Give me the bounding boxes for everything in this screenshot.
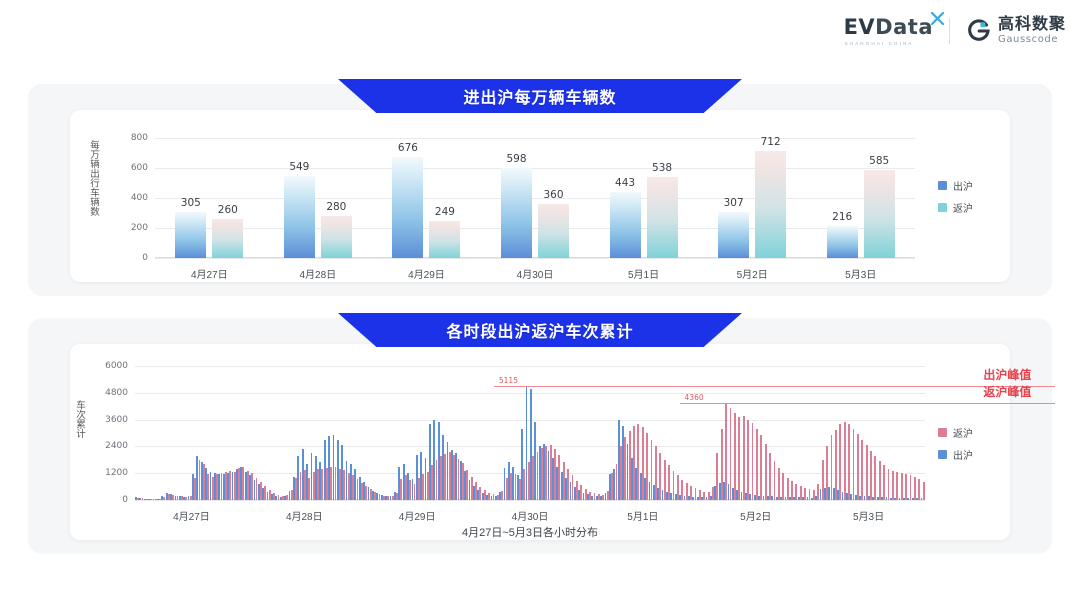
chart-2-annotation-label: 出沪峰值 xyxy=(983,366,1031,383)
chart-2-hour-bar-返沪[interactable] xyxy=(866,445,868,500)
chart-2-hour-bar-返沪[interactable] xyxy=(769,453,771,500)
chart-1-plot-area: 0200400600800305260549280676249598360443… xyxy=(155,138,915,258)
chart-1-legend-swatch xyxy=(938,181,947,190)
chart-2-x-axis-caption: 4月27日~5月3日各小时分布 xyxy=(462,524,598,540)
chart-1-x-tick-label: 5月1日 xyxy=(628,266,659,281)
chart-1-legend-item[interactable]: 出沪 xyxy=(938,178,973,193)
chart-2-hour-bar-返沪[interactable] xyxy=(910,475,912,500)
x-mark-icon xyxy=(931,12,944,25)
chart-1-gridline xyxy=(155,198,915,199)
chart-2-hour-bar-返沪[interactable] xyxy=(870,451,872,500)
chart-2-annotation-value: 4360 xyxy=(685,393,704,402)
chart-1-bar-返沪[interactable]: 280 xyxy=(321,216,352,258)
chart-2-legend-item[interactable]: 返沪 xyxy=(938,425,973,440)
chart-2-y-tick-label: 1200 xyxy=(105,468,128,478)
chart-1-bar-返沪[interactable]: 360 xyxy=(538,204,569,258)
chart-2-hour-bar-返沪[interactable] xyxy=(839,424,841,500)
chart-1-bar-value-label: 443 xyxy=(615,177,635,189)
chart-2-x-tick-label: 4月27日 xyxy=(173,508,210,523)
chart-2-hour-bar-返沪[interactable] xyxy=(883,465,885,500)
chart-1-x-tick-label: 5月2日 xyxy=(737,266,768,281)
chart-1-y-tick-label: 400 xyxy=(131,193,148,203)
chart-2-hour-bar-返沪[interactable] xyxy=(879,461,881,500)
chart-1-bar-出沪[interactable]: 443 xyxy=(610,192,641,258)
chart-2-hour-bar-返沪[interactable] xyxy=(853,429,855,500)
chart-2-hour-bar-返沪[interactable] xyxy=(914,477,916,500)
chart-2-gridline xyxy=(135,500,925,501)
chart-1-bar-出沪[interactable]: 305 xyxy=(175,212,206,258)
chart-1-bar-value-label: 585 xyxy=(869,155,889,167)
chart-2-annotation-value: 5115 xyxy=(499,376,518,385)
chart-2-y-tick-label: 3600 xyxy=(105,415,128,425)
chart-2-y-tick-label: 2400 xyxy=(105,441,128,451)
chart-2-x-tick-label: 5月3日 xyxy=(853,508,884,523)
chart-1-y-tick-label: 800 xyxy=(131,133,148,143)
chart-2-annotation-label: 返沪峰值 xyxy=(983,383,1031,400)
chart-1-gridline xyxy=(155,258,915,259)
chart-1-gridline xyxy=(155,228,915,229)
chart-1-bar-value-label: 676 xyxy=(398,142,418,154)
chart-1-bar-返沪[interactable]: 249 xyxy=(429,221,460,258)
chart-2-legend-label: 出沪 xyxy=(953,447,973,462)
chart-1-y-tick-label: 600 xyxy=(131,163,148,173)
logo-evdata: EVData SHANGHAI CHINA xyxy=(844,17,933,46)
chart-1-bar-value-label: 307 xyxy=(724,197,744,209)
chart-2-hour-bar-返沪[interactable] xyxy=(888,469,890,500)
chart-1-bar-出沪[interactable]: 216 xyxy=(827,226,858,258)
chart-1-x-tick-label: 4月29日 xyxy=(408,266,445,281)
chart-1-legend: 出沪返沪 xyxy=(938,178,973,215)
chart-1-legend-label: 出沪 xyxy=(953,178,973,193)
chart-1-y-tick-label: 0 xyxy=(142,253,148,263)
chart-2-hour-bar-返沪[interactable] xyxy=(774,461,776,500)
chart-2-x-tick-label: 4月28日 xyxy=(286,508,323,523)
chart-1-bar-出沪[interactable]: 676 xyxy=(392,157,423,258)
chart-2-hour-bar-返沪[interactable] xyxy=(752,423,754,500)
chart-1-bar-返沪[interactable]: 585 xyxy=(864,170,895,258)
chart-2-hour-bar-返沪[interactable] xyxy=(874,456,876,500)
chart-2-hour-bar-返沪[interactable] xyxy=(896,472,898,500)
chart-2-hour-bar-返沪[interactable] xyxy=(730,408,732,500)
chart-1-bar-value-label: 216 xyxy=(832,211,852,223)
chart-2-x-tick-label: 4月30日 xyxy=(512,508,549,523)
chart-1-legend-swatch xyxy=(938,203,947,212)
chart-1-gridline xyxy=(155,138,915,139)
chart-2-hour-bar-返沪[interactable] xyxy=(857,434,859,500)
chart-2-legend: 返沪出沪 xyxy=(938,425,973,462)
chart-1-bar-value-label: 712 xyxy=(761,136,781,148)
chart-1-gridline xyxy=(155,168,915,169)
chart-2-hour-bar-返沪[interactable] xyxy=(734,413,736,500)
chart-1-legend-label: 返沪 xyxy=(953,200,973,215)
chart-2-plot-area: 0120024003600480060004月27日4月28日4月29日4月30… xyxy=(135,366,925,500)
gausscode-mark-icon xyxy=(966,18,992,44)
chart-1-bar-出沪[interactable]: 307 xyxy=(718,212,749,258)
chart-2-legend-swatch xyxy=(938,450,947,459)
chart-1-bar-value-label: 598 xyxy=(506,153,526,165)
chart-2-legend-label: 返沪 xyxy=(953,425,973,440)
chart-2-hour-bar-返沪[interactable] xyxy=(765,444,767,500)
chart-1-bar-value-label: 249 xyxy=(435,206,455,218)
chart-2-annotation-line xyxy=(680,403,1055,404)
chart-2-hour-bar-返沪[interactable] xyxy=(738,417,740,500)
chart-2-x-tick-label: 5月1日 xyxy=(627,508,658,523)
gausscode-cn: 高科数聚 xyxy=(998,17,1066,33)
gausscode-text: 高科数聚 Gausscode xyxy=(998,17,1066,45)
chart-2-hour-bar-返沪[interactable] xyxy=(892,471,894,500)
chart-2-hour-bar-返沪[interactable] xyxy=(756,429,758,500)
chart-2-gridline xyxy=(135,366,925,367)
chart-2-hour-bar-返沪[interactable] xyxy=(747,420,749,500)
chart-2-hour-bar-返沪[interactable] xyxy=(848,424,850,500)
chart-2-x-tick-label: 4月29日 xyxy=(399,508,436,523)
chart-2-legend-swatch xyxy=(938,428,947,437)
gausscode-en: Gausscode xyxy=(998,35,1066,45)
logo-gausscode: 高科数聚 Gausscode xyxy=(966,17,1066,45)
section-1-banner-title: 进出沪每万辆车辆数 xyxy=(338,79,742,113)
chart-1-bar-value-label: 280 xyxy=(326,201,346,213)
chart-2-y-axis-title: 车次累计 xyxy=(72,400,86,470)
chart-2-hour-bar-返沪[interactable] xyxy=(760,435,762,500)
page-header: EVData SHANGHAI CHINA 高科数聚 Gausscode xyxy=(0,0,1080,62)
logo-evdata-wordmark: EVData xyxy=(844,17,933,38)
chart-1-bar-value-label: 549 xyxy=(289,161,309,173)
chart-2-x-tick-label: 5月2日 xyxy=(740,508,771,523)
chart-2-hour-bar-返沪[interactable] xyxy=(918,479,920,500)
chart-1-bar-返沪[interactable]: 712 xyxy=(755,151,786,258)
chart-1-x-tick-label: 4月30日 xyxy=(517,266,554,281)
chart-1-x-tick-label: 4月28日 xyxy=(300,266,337,281)
logo-evdata-data: Data xyxy=(875,15,933,39)
chart-1-y-tick-label: 200 xyxy=(131,223,148,233)
chart-1-bar-出沪[interactable]: 549 xyxy=(284,176,315,258)
chart-1-bar-返沪[interactable]: 538 xyxy=(647,177,678,258)
chart-2-hour-bar-返沪[interactable] xyxy=(743,416,745,500)
chart-1-x-tick-label: 4月27日 xyxy=(191,266,228,281)
chart-2-y-tick-label: 6000 xyxy=(105,361,128,371)
chart-1-bar-出沪[interactable]: 598 xyxy=(501,168,532,258)
chart-2-hour-bar-返沪[interactable] xyxy=(778,468,780,500)
chart-1-legend-item[interactable]: 返沪 xyxy=(938,200,973,215)
chart-1-bar-value-label: 305 xyxy=(181,197,201,209)
chart-1-bar-value-label: 538 xyxy=(652,162,672,174)
chart-1-x-tick-label: 5月3日 xyxy=(845,266,876,281)
chart-2-hour-bar-返沪[interactable] xyxy=(905,474,907,500)
chart-2-hour-bar-返沪[interactable] xyxy=(923,482,925,500)
chart-2-legend-item[interactable]: 出沪 xyxy=(938,447,973,462)
chart-2-y-tick-label: 0 xyxy=(122,495,128,505)
logo-divider xyxy=(949,18,950,44)
chart-1-bar-value-label: 260 xyxy=(218,204,238,216)
chart-1-bar-value-label: 360 xyxy=(543,189,563,201)
logo-evdata-ev: EV xyxy=(844,15,876,39)
chart-2-y-tick-label: 4800 xyxy=(105,388,128,398)
chart-2-hour-bar-返沪[interactable] xyxy=(861,440,863,500)
chart-2-hour-bar-返沪[interactable] xyxy=(844,422,846,500)
chart-1-y-axis-title: 每万辆出行车辆数 xyxy=(86,140,100,256)
logo-evdata-tagline: SHANGHAI CHINA xyxy=(845,41,914,46)
chart-2-annotation-line xyxy=(494,386,1055,387)
section-2-banner-title: 各时段出沪返沪车次累计 xyxy=(338,313,742,347)
chart-2-hour-bar-返沪[interactable] xyxy=(901,473,903,500)
chart-1-bar-返沪[interactable]: 260 xyxy=(212,219,243,258)
